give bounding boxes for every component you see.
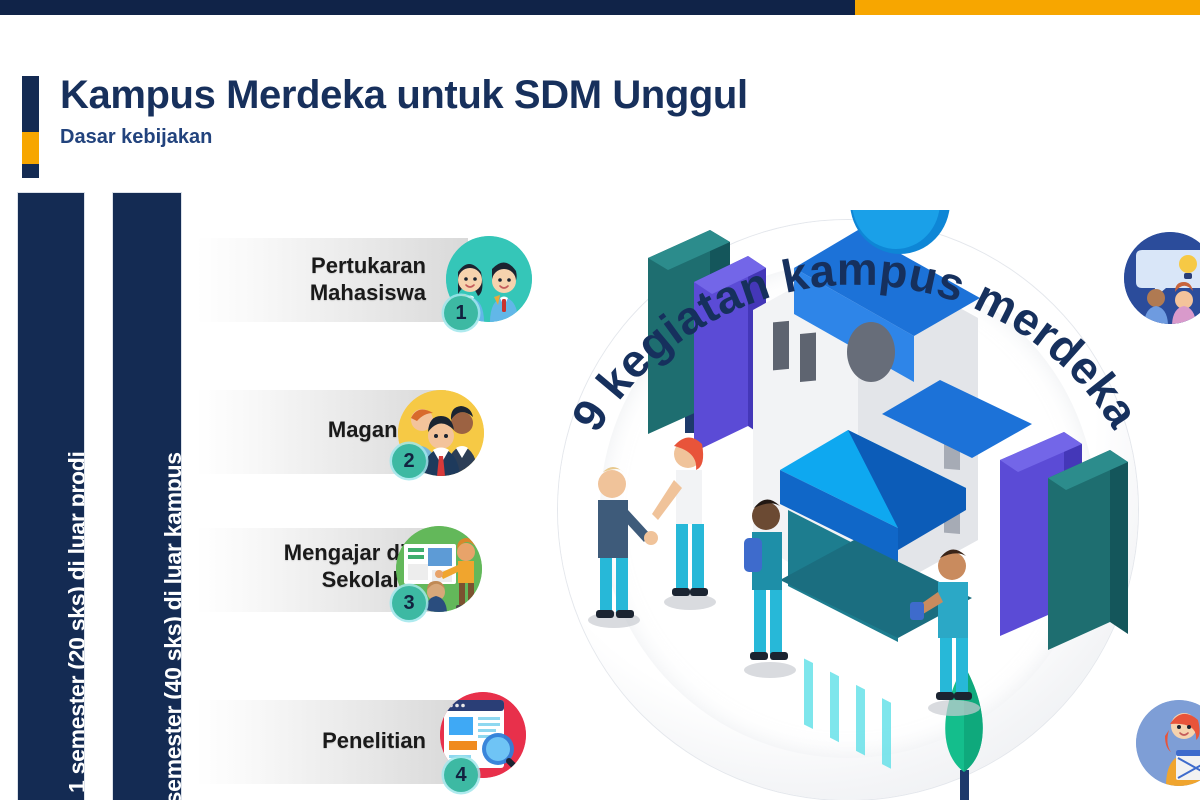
activity-label-4: Penelitian — [226, 728, 426, 755]
activity-badge-4: 4 — [444, 758, 478, 792]
activity-label-3-line1: Mengajar di — [206, 540, 406, 567]
activity-item-1[interactable]: Pertukaran Mahasiswa — [196, 238, 556, 322]
accent-segment-orange — [22, 132, 39, 164]
side-bar-prodi-label: 1 semester (20 sks) di luar prodi — [64, 451, 84, 793]
activity-badge-2: 2 — [392, 444, 426, 478]
activity-item-2[interactable]: Magang — [196, 390, 556, 474]
books-right — [1000, 432, 1128, 650]
infographic-page: Kampus Merdeka untuk SDM Unggul Dasar ke… — [0, 0, 1200, 800]
activity-label-1-line1: Pertukaran — [226, 253, 426, 280]
center-illustration-stage: 9 kegiatan kampus merdeka — [548, 210, 1148, 800]
accent-segment-navy-top — [22, 76, 39, 132]
activity-label-4-line1: Penelitian — [226, 728, 426, 755]
top-bar-navy-segment — [0, 0, 855, 15]
activity-label-2: Magang — [211, 417, 411, 444]
activity-label-1: Pertukaran Mahasiswa — [226, 253, 426, 307]
top-color-bar — [0, 0, 1200, 15]
activity-badge-1: 1 — [444, 296, 478, 330]
activity-label-2-line1: Magang — [211, 417, 411, 444]
page-title: Kampus Merdeka untuk SDM Unggul — [60, 72, 748, 118]
activity-label-3: Mengajar di Sekolah — [206, 540, 406, 594]
header: Kampus Merdeka untuk SDM Unggul Dasar ke… — [22, 72, 982, 182]
books-left — [648, 230, 766, 452]
activity-item-4[interactable]: Penelitian — [196, 700, 556, 784]
campus-building — [753, 230, 1032, 769]
activity-badge-3: 3 — [392, 586, 426, 620]
page-subtitle: Dasar kebijakan — [60, 126, 748, 149]
student-figure-2 — [652, 437, 716, 610]
title-accent-bar — [22, 76, 39, 178]
campus-isometric-illustration — [548, 210, 1148, 800]
activity-label-1-line2: Mahasiswa — [226, 280, 426, 307]
side-bar-prodi: 1 semester (20 sks) di luar prodi — [18, 193, 84, 800]
activity-item-3[interactable]: Mengajar di Sekolah — [196, 528, 556, 612]
activity-label-3-line2: Sekolah — [206, 567, 406, 594]
side-bar-kampus-label: 2 semester (40 sks) di luar kampus — [160, 452, 181, 800]
top-bar-orange-segment — [855, 0, 1200, 15]
side-bar-kampus: 2 semester (40 sks) di luar kampus — [113, 193, 181, 800]
student-figure-1 — [588, 467, 658, 628]
accent-segment-navy-bottom — [22, 164, 39, 178]
title-block: Kampus Merdeka untuk SDM Unggul Dasar ke… — [60, 72, 748, 149]
